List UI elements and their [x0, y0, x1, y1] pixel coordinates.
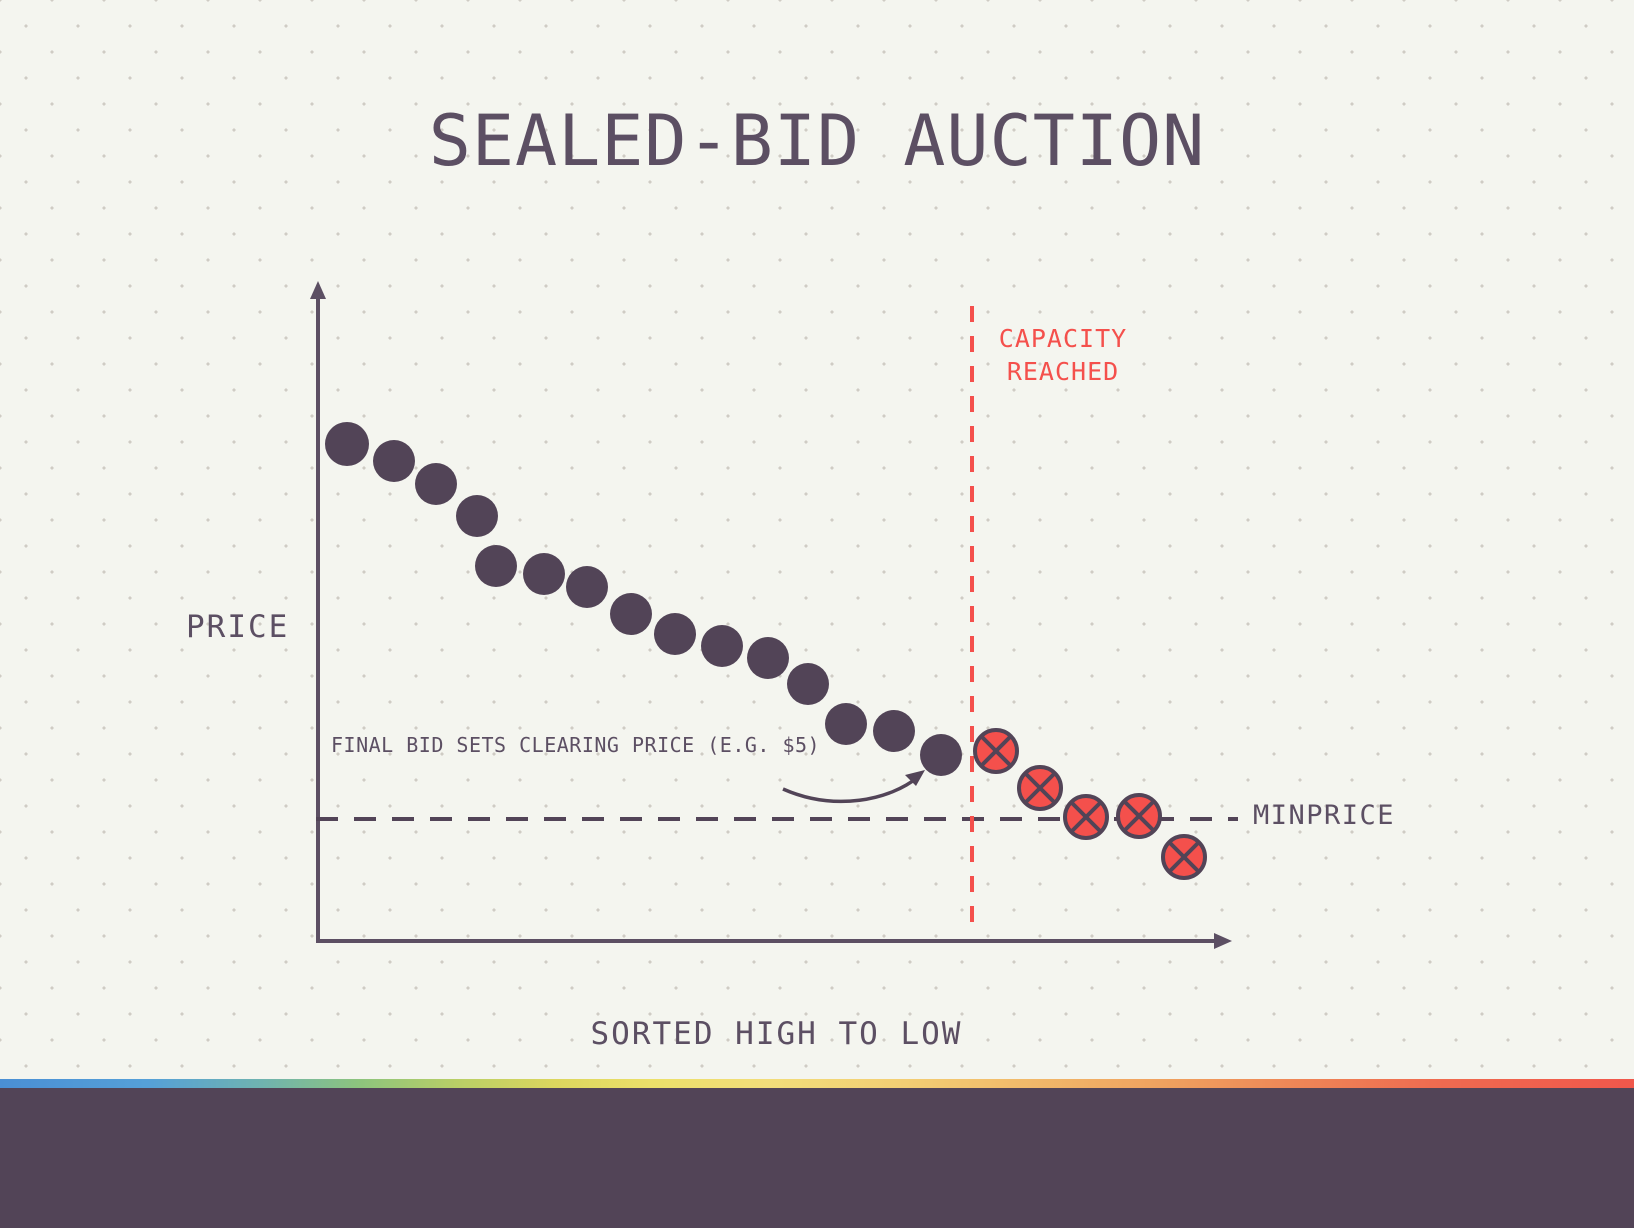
- bid-dot: [566, 566, 608, 608]
- clearing-price-annotation: FINAL BID SETS CLEARING PRICE (E.G. $5): [331, 733, 820, 757]
- x-axis-arrowhead: [1214, 933, 1232, 949]
- footer-bar: [0, 1088, 1634, 1228]
- rejected-bid-dot: [1065, 796, 1107, 838]
- bid-dot: [415, 463, 457, 505]
- bid-dot: [825, 703, 867, 745]
- rejected-bid-dot: [1118, 795, 1160, 837]
- rejected-bid-dot: [1019, 767, 1061, 809]
- bid-dot: [475, 545, 517, 587]
- minprice-label: MINPRICE: [1253, 800, 1395, 831]
- y-axis-label: PRICE: [186, 609, 289, 645]
- rejected-bid-dot: [975, 730, 1017, 772]
- clearing-price-arrow: [783, 770, 925, 801]
- rainbow-divider: [0, 1079, 1634, 1088]
- bid-dot: [747, 637, 789, 679]
- capacity-reached-label: CAPACITY REACHED: [998, 322, 1128, 388]
- bid-dot: [373, 440, 415, 482]
- bid-dot: [701, 625, 743, 667]
- x-axis: [316, 933, 1232, 949]
- rejected-bid-dot: [1163, 836, 1205, 878]
- bid-dot: [873, 710, 915, 752]
- bid-dot: [654, 613, 696, 655]
- slide-canvas: SEALED-BID AUCTION: [0, 0, 1634, 1228]
- accepted-bid-dots: [325, 422, 962, 776]
- bid-dot: [787, 663, 829, 705]
- bid-dot: [610, 593, 652, 635]
- y-axis-arrowhead: [310, 281, 326, 299]
- rejected-bid-dots: [975, 730, 1205, 878]
- bid-dot: [456, 495, 498, 537]
- x-axis-label: SORTED HIGH TO LOW: [0, 1016, 1553, 1052]
- bid-dot: [523, 553, 565, 595]
- y-axis: [310, 281, 326, 942]
- bid-dot: [325, 422, 369, 466]
- bid-dot: [920, 734, 962, 776]
